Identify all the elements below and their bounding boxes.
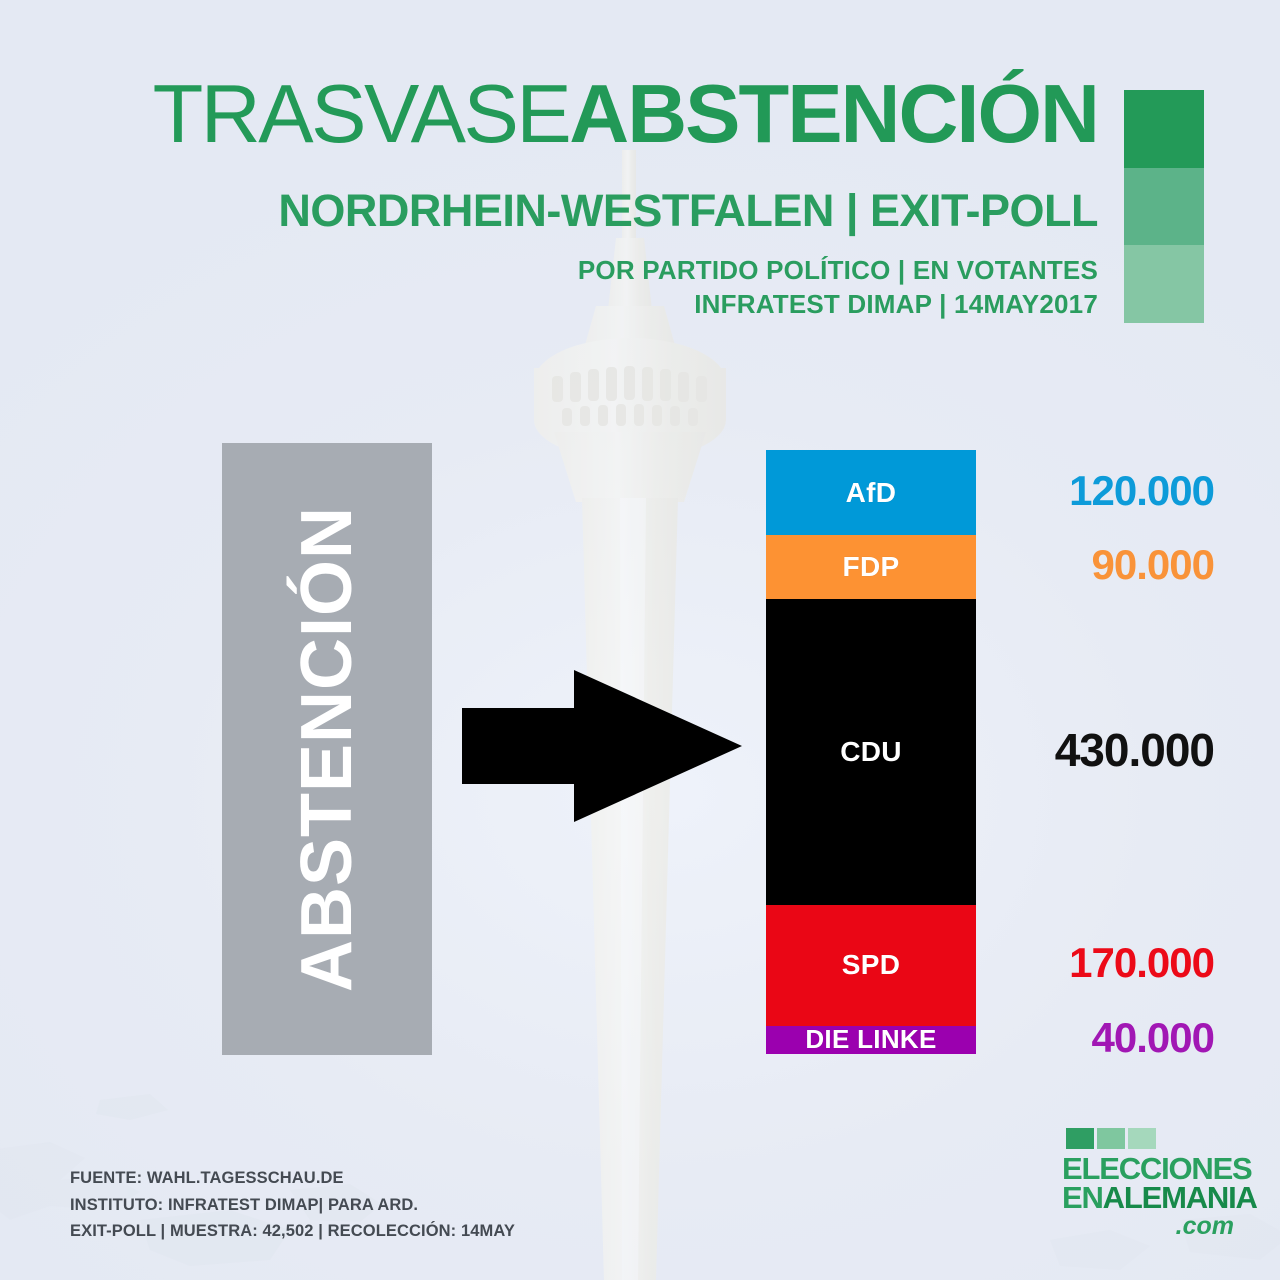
stacked-bar-chart: AfD FDP CDU SPD DIE LINKE xyxy=(766,450,976,1054)
infographic-canvas: TRASVASEABSTENCIÓN NORDRHEIN-WESTFALEN |… xyxy=(0,0,1280,1280)
footer-line-instituto: INSTITUTO: INFRATEST DIMAP| PARA ARD. xyxy=(70,1192,515,1219)
flow-arrow-icon xyxy=(462,670,742,822)
bar-segment-fdp[interactable]: FDP xyxy=(766,535,976,599)
logo-square-2 xyxy=(1097,1128,1125,1149)
logo-squares xyxy=(1066,1128,1234,1149)
arrow-shape xyxy=(462,670,742,822)
logo-line-1: ELECCIONES xyxy=(1062,1154,1234,1183)
segment-label-spd: SPD xyxy=(842,949,900,981)
segment-label-die-linke: DIE LINKE xyxy=(805,1024,936,1055)
swatch-mid xyxy=(1124,168,1204,246)
abstencion-label: ABSTENCIÓN xyxy=(286,506,368,992)
logo-square-1 xyxy=(1066,1128,1094,1149)
logo-line-2: ENALEMANIA xyxy=(1062,1183,1234,1212)
value-fdp: 90.000 xyxy=(988,541,1214,589)
logo-line-2-alemania: ALEMANIA xyxy=(1103,1180,1257,1215)
meta-block: POR PARTIDO POLÍTICO | EN VOTANTES INFRA… xyxy=(0,253,1098,322)
bar-segment-cdu[interactable]: CDU xyxy=(766,599,976,905)
segment-label-afd: AfD xyxy=(846,477,897,509)
value-die-linke: 40.000 xyxy=(988,1014,1214,1062)
page-title: TRASVASEABSTENCIÓN xyxy=(0,72,1098,155)
title-bold: ABSTENCIÓN xyxy=(569,67,1098,160)
swatch-light xyxy=(1124,245,1204,323)
value-afd: 120.000 xyxy=(988,467,1214,515)
bar-segment-die-linke[interactable]: DIE LINKE xyxy=(766,1026,976,1054)
title-light: TRASVASE xyxy=(153,67,570,160)
value-label-group: 120.000 90.000 430.000 170.000 40.000 xyxy=(988,450,1280,1055)
value-cdu: 430.000 xyxy=(988,723,1214,777)
value-spd: 170.000 xyxy=(988,939,1214,987)
bar-segment-afd[interactable]: AfD xyxy=(766,450,976,535)
footer-source-block: FUENTE: WAHL.TAGESSCHAU.DE INSTITUTO: IN… xyxy=(70,1165,515,1245)
brand-logo[interactable]: ELECCIONES ENALEMANIA .com xyxy=(1062,1128,1234,1250)
meta-line-1: POR PARTIDO POLÍTICO | EN VOTANTES xyxy=(0,253,1098,287)
logo-square-3 xyxy=(1128,1128,1156,1149)
logo-line-2-en: EN xyxy=(1062,1180,1103,1215)
abstencion-source-box: ABSTENCIÓN xyxy=(222,443,432,1055)
bar-segment-spd[interactable]: SPD xyxy=(766,905,976,1026)
footer-line-fuente: FUENTE: WAHL.TAGESSCHAU.DE xyxy=(70,1165,515,1192)
meta-line-2: INFRATEST DIMAP | 14MAY2017 xyxy=(0,287,1098,321)
swatch-dark xyxy=(1124,90,1204,168)
segment-label-cdu: CDU xyxy=(840,736,902,768)
subtitle: NORDRHEIN-WESTFALEN | EXIT-POLL xyxy=(0,185,1098,237)
footer-line-muestra: EXIT-POLL | MUESTRA: 42,502 | RECOLECCIÓ… xyxy=(70,1218,515,1245)
logo-domain: .com xyxy=(1062,1214,1234,1239)
green-swatch-stack xyxy=(1124,90,1204,323)
segment-label-fdp: FDP xyxy=(843,551,900,583)
